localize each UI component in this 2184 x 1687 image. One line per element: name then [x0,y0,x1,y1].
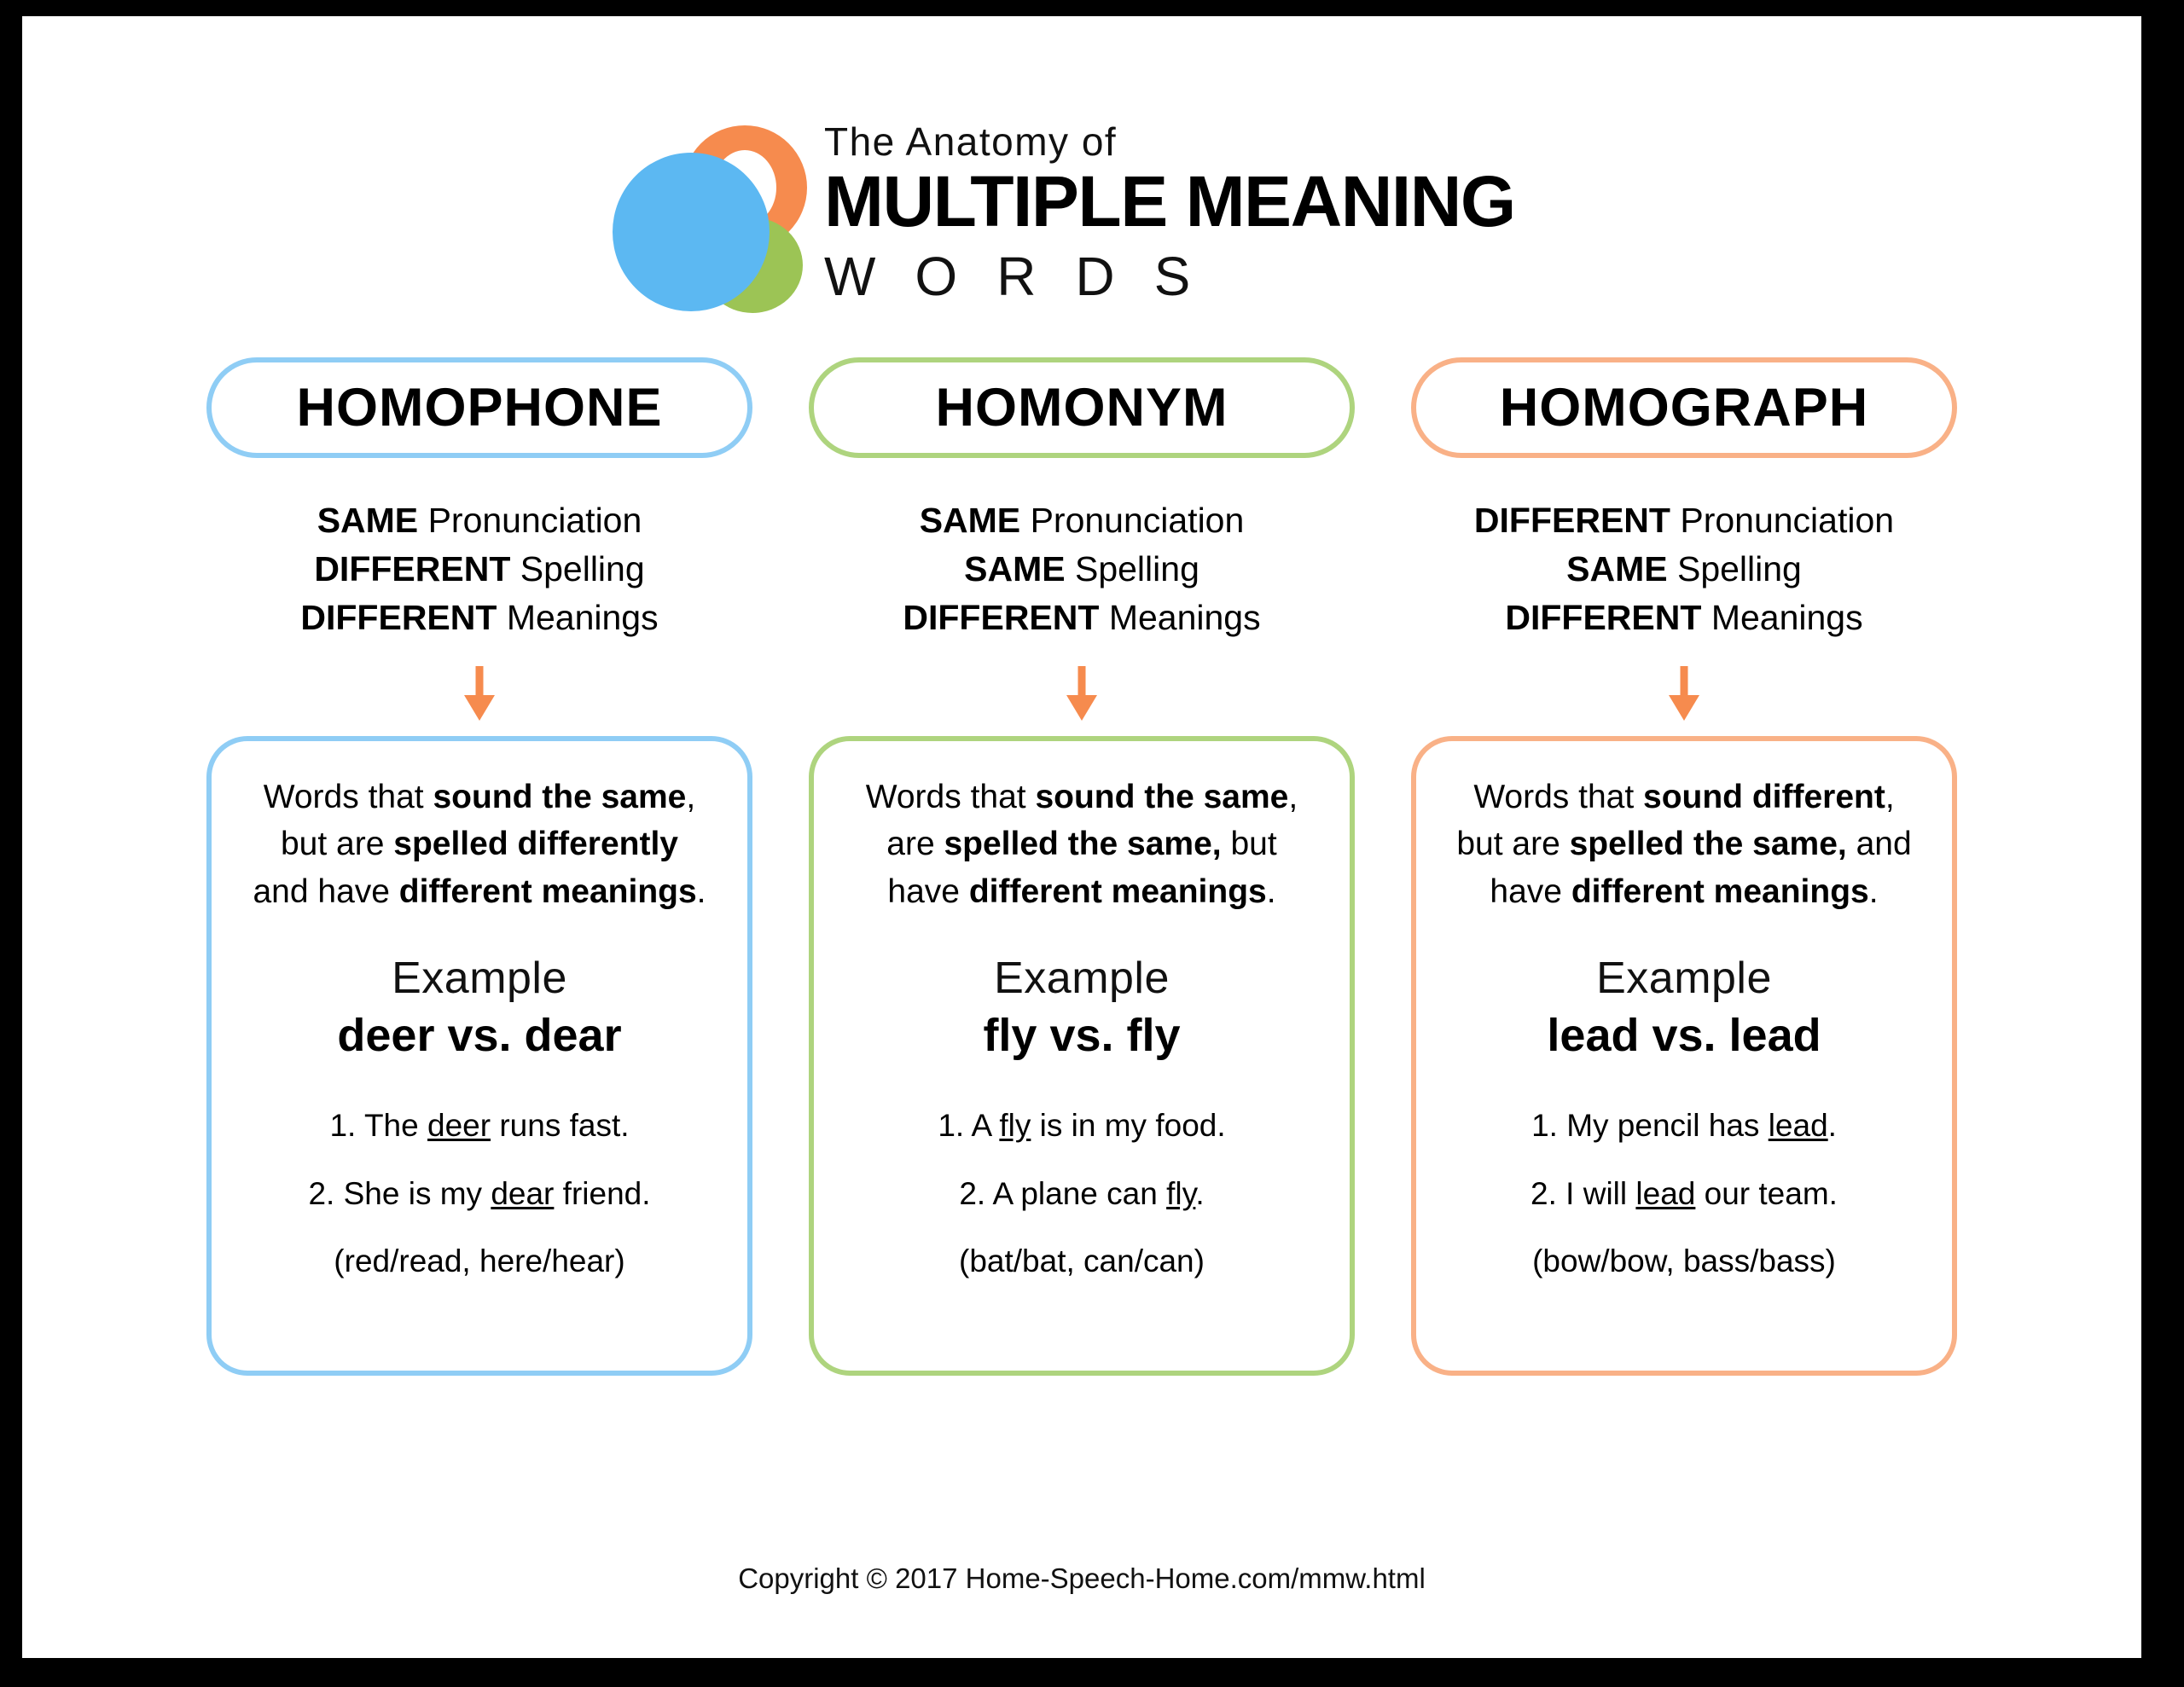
definition-plain: have [1490,873,1571,910]
sentence-number: 1. [329,1108,356,1143]
example-sentence-list: 1. The deer runs fast.2. She is my dear … [234,1106,725,1215]
definition-text: Words that sound the same,are spelled th… [866,774,1298,915]
trait-line: DIFFERENT Pronunciation [1474,496,1894,545]
definition-plain: but are [1456,826,1569,862]
arrow-down-icon [464,666,495,719]
definition-line: but are spelled the same, and [1456,820,1911,867]
trait-line: SAME Spelling [903,545,1260,594]
example-sentence: 1. The deer runs fast. [329,1106,629,1145]
trait-keyword: DIFFERENT [1474,501,1670,540]
trait-keyword: DIFFERENT [314,549,510,588]
trait-subject: Pronunciation [418,501,642,540]
sentence-suffix: . [1828,1108,1837,1143]
definition-emphasis: sound the same [433,779,686,815]
example-sentence-list: 1. My pencil has lead.2. I will lead our… [1438,1106,1930,1215]
example-word-pair: deer vs. dear [337,1009,621,1062]
definition-plain: Words that [1473,779,1643,815]
definition-line: Words that sound the same, [253,774,706,820]
poster-frame: The Anatomy of MULTIPLE MEANING WORDS HO… [22,16,2141,1658]
definition-plain: , [1288,779,1298,815]
definition-line: Words that sound the same, [866,774,1298,820]
example-sentence: 2. I will lead our team. [1531,1174,1838,1214]
arrow-down-icon [1669,666,1699,719]
arrow-head [1066,695,1097,721]
trait-keyword: DIFFERENT [903,598,1099,637]
sentence-prefix: I will [1557,1176,1636,1211]
sentence-suffix: friend. [554,1176,650,1211]
definition-plain: have [887,873,968,910]
type-badge-label: HOMOGRAPH [1500,377,1869,438]
definition-emphasis: different meanings [969,873,1267,910]
sentence-number: 1. [938,1108,964,1143]
definition-plain: Words that [264,779,433,815]
trait-subject: Pronunciation [1670,501,1894,540]
definition-emphasis: sound the same [1035,779,1288,815]
sentence-prefix: She is my [334,1176,491,1211]
example-sentence: 1. A fly is in my food. [938,1106,1225,1145]
logo-mark-circles [613,125,809,313]
traits-list: SAME PronunciationSAME SpellingDIFFERENT… [903,496,1260,642]
definition-line: have different meanings. [866,868,1298,915]
definition-plain: are [886,826,944,862]
logo-tagline: The Anatomy of [824,120,1541,164]
trait-subject: Spelling [1668,549,1802,588]
definition-plain: and have [253,873,398,910]
more-examples-text: (red/read, here/hear) [334,1244,624,1279]
trait-subject: Pronunciation [1020,501,1244,540]
definition-emphasis: spelled the same, [944,826,1221,862]
trait-keyword: DIFFERENT [300,598,497,637]
example-sentence: 1. My pencil has lead. [1531,1106,1837,1145]
logo-subtitle: WORDS [824,244,1541,310]
sentence-keyword: deer [427,1108,491,1143]
trait-subject: Meanings [497,598,658,637]
definition-plain: . [697,873,706,910]
example-label: Example [392,953,567,1004]
sentence-prefix: My pencil has [1558,1108,1769,1143]
sentence-keyword: dear [491,1176,554,1211]
definition-line: Words that sound different, [1456,774,1911,820]
sentence-keyword: fly [1166,1176,1195,1211]
footer-copyright: Copyright © 2017 Home-Speech-Home.com/mm… [22,1562,2141,1595]
trait-line: SAME Pronunciation [300,496,658,545]
definition-plain: and [1847,826,1912,862]
sentence-keyword: lead [1635,1176,1695,1211]
definition-line: but are spelled differently [253,820,706,867]
type-badge-label: HOMONYM [936,377,1228,438]
info-card: Words that sound the same,are spelled th… [809,736,1355,1376]
definition-plain: . [1267,873,1276,910]
info-card: Words that sound the same,but are spelle… [206,736,752,1376]
trait-subject: Meanings [1099,598,1260,637]
definition-emphasis: spelled the same, [1570,826,1847,862]
traits-list: DIFFERENT PronunciationSAME SpellingDIFF… [1474,496,1894,642]
trait-line: DIFFERENT Meanings [1474,594,1894,642]
logo-title: MULTIPLE MEANING [824,165,1541,237]
more-examples-text: (bat/bat, can/can) [959,1244,1205,1279]
example-label: Example [1596,953,1772,1004]
trait-subject: Spelling [510,549,644,588]
column-homophone: HOMOPHONESAME PronunciationDIFFERENT Spe… [206,357,752,1376]
trait-keyword: SAME [920,501,1020,540]
arrow-head [464,695,495,721]
example-sentence: 2. A plane can fly. [959,1174,1204,1214]
sentence-suffix: our team. [1695,1176,1838,1211]
definition-line: are spelled the same, but [866,820,1298,867]
header: The Anatomy of MULTIPLE MEANING WORDS [22,16,2141,357]
trait-keyword: SAME [317,501,418,540]
example-word-pair: lead vs. lead [1547,1009,1821,1062]
type-badge-homograph[interactable]: HOMOGRAPH [1411,357,1957,458]
trait-line: DIFFERENT Spelling [300,545,658,594]
arrow-stem [476,666,484,699]
trait-subject: Spelling [1066,549,1199,588]
definition-line: and have different meanings. [253,868,706,915]
type-badge-homonym[interactable]: HOMONYM [809,357,1355,458]
sentence-suffix: . [1195,1176,1204,1211]
logo-text: The Anatomy of MULTIPLE MEANING WORDS [824,120,1541,309]
example-sentence: 2. She is my dear friend. [308,1174,650,1214]
sentence-number: 2. [308,1176,334,1211]
definition-emphasis: sound different [1643,779,1885,815]
trait-keyword: SAME [1566,549,1667,588]
definition-plain: , [1885,779,1895,815]
column-homonym: HOMONYMSAME PronunciationSAME SpellingDI… [809,357,1355,1376]
trait-line: SAME Spelling [1474,545,1894,594]
sentence-suffix: is in my food. [1031,1108,1225,1143]
definition-emphasis: different meanings [399,873,697,910]
trait-keyword: SAME [964,549,1065,588]
trait-line: DIFFERENT Meanings [300,594,658,642]
sentence-number: 1. [1531,1108,1558,1143]
column-homograph: HOMOGRAPHDIFFERENT PronunciationSAME Spe… [1411,357,1957,1376]
example-label: Example [994,953,1170,1004]
sentence-prefix: The [356,1108,427,1143]
definition-plain: but [1222,826,1277,862]
definition-plain: Words that [866,779,1036,815]
sentence-number: 2. [1531,1176,1557,1211]
trait-subject: Meanings [1701,598,1862,637]
sentence-keyword: fly [999,1108,1031,1143]
arrow-stem [1681,666,1688,699]
type-badge-homophone[interactable]: HOMOPHONE [206,357,752,458]
trait-line: SAME Pronunciation [903,496,1260,545]
example-word-pair: fly vs. fly [983,1009,1180,1062]
sentence-number: 2. [959,1176,985,1211]
definition-line: have different meanings. [1456,868,1911,915]
definition-plain: . [1869,873,1879,910]
traits-list: SAME PronunciationDIFFERENT SpellingDIFF… [300,496,658,642]
trait-keyword: DIFFERENT [1505,598,1701,637]
definition-text: Words that sound different,but are spell… [1456,774,1911,915]
trait-line: DIFFERENT Meanings [903,594,1260,642]
sentence-suffix: runs fast. [491,1108,629,1143]
definition-plain: but are [281,826,393,862]
arrow-stem [1078,666,1086,699]
arrow-down-icon [1066,666,1097,719]
blue-circle-icon [613,153,770,311]
sentence-keyword: lead [1769,1108,1828,1143]
arrow-head [1669,695,1699,721]
info-card: Words that sound different,but are spell… [1411,736,1957,1376]
logo: The Anatomy of MULTIPLE MEANING WORDS [613,125,1551,339]
example-sentence-list: 1. A fly is in my food.2. A plane can fl… [836,1106,1327,1215]
definition-text: Words that sound the same,but are spelle… [253,774,706,915]
sentence-prefix: A [964,1108,999,1143]
type-badge-label: HOMOPHONE [296,377,662,438]
definition-emphasis: different meanings [1571,873,1869,910]
definition-emphasis: spelled differently [393,826,678,862]
columns-container: HOMOPHONESAME PronunciationDIFFERENT Spe… [22,357,2141,1376]
sentence-prefix: A plane can [985,1176,1166,1211]
more-examples-text: (bow/bow, bass/bass) [1532,1244,1836,1279]
definition-plain: , [686,779,695,815]
